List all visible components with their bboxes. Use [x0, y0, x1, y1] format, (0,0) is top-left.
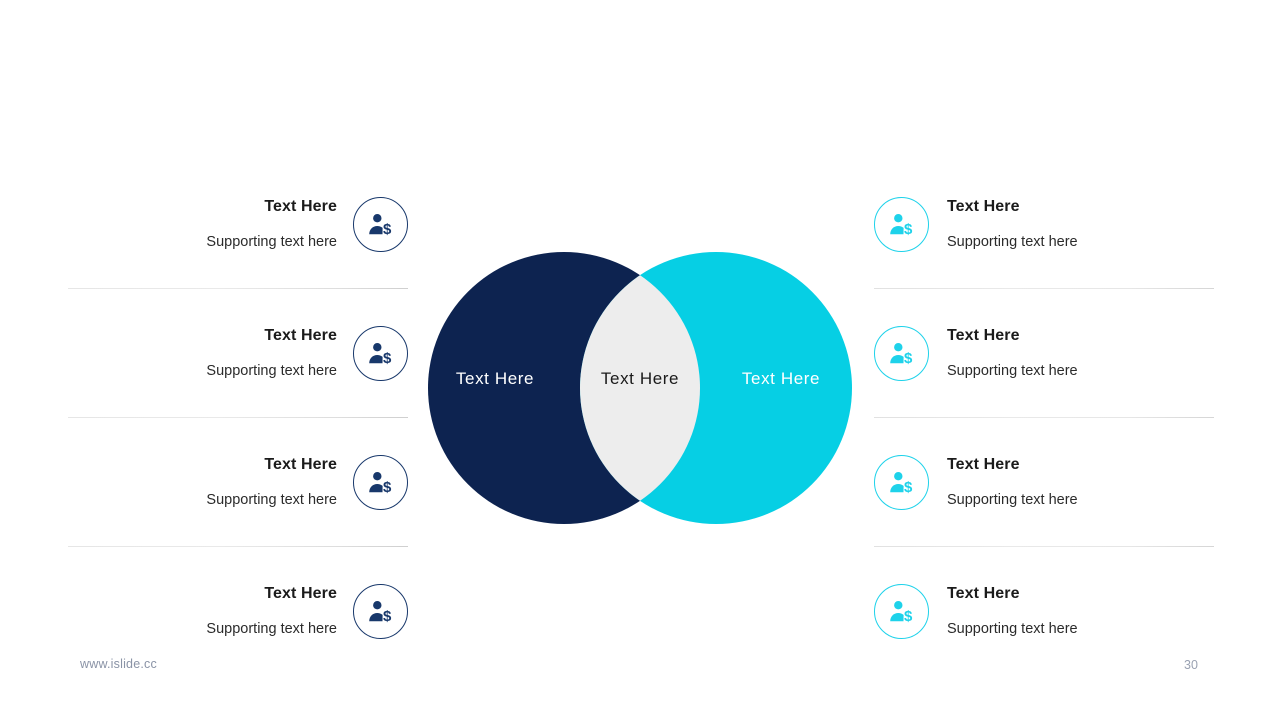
user-dollar-icon[interactable]: $	[874, 197, 929, 252]
list-item-text: Text Here Supporting text here	[68, 198, 353, 250]
user-dollar-icon[interactable]: $	[353, 326, 408, 381]
user-dollar-icon[interactable]: $	[353, 197, 408, 252]
list-item-text: Text Here Supporting text here	[68, 585, 353, 637]
list-item-title: Text Here	[947, 456, 1020, 474]
list-item-text: Text Here Supporting text here	[929, 585, 1214, 637]
list-item[interactable]: Text Here Supporting text here $	[68, 160, 408, 289]
list-item-subtitle: Supporting text here	[947, 492, 1078, 509]
slide-canvas: Text Here Text Here Text Here Text Here …	[0, 0, 1280, 720]
list-item-title: Text Here	[947, 327, 1020, 345]
list-item-subtitle: Supporting text here	[206, 621, 337, 638]
list-item-subtitle: Supporting text here	[206, 363, 337, 380]
list-item-title: Text Here	[264, 198, 337, 216]
list-item-title: Text Here	[264, 585, 337, 603]
list-item-subtitle: Supporting text here	[206, 234, 337, 251]
list-item[interactable]: $ Text Here Supporting text here	[874, 547, 1214, 676]
user-dollar-icon[interactable]: $	[353, 584, 408, 639]
svg-text:$: $	[383, 479, 392, 494]
svg-text:$: $	[904, 608, 913, 623]
footer-url[interactable]: www.islide.cc	[80, 657, 157, 671]
list-item-text: Text Here Supporting text here	[68, 456, 353, 508]
venn-right-label: Text Here	[742, 369, 820, 389]
list-item-text: Text Here Supporting text here	[929, 327, 1214, 379]
right-item-list: $ Text Here Supporting text here $ Text …	[874, 160, 1214, 676]
list-item-text: Text Here Supporting text here	[929, 198, 1214, 250]
user-dollar-icon[interactable]: $	[874, 455, 929, 510]
user-dollar-icon[interactable]: $	[874, 326, 929, 381]
venn-left-label: Text Here	[456, 369, 534, 389]
list-item-subtitle: Supporting text here	[947, 621, 1078, 638]
svg-text:$: $	[904, 479, 913, 494]
list-item[interactable]: $ Text Here Supporting text here	[874, 418, 1214, 547]
list-item[interactable]: Text Here Supporting text here $	[68, 289, 408, 418]
user-dollar-icon[interactable]: $	[874, 584, 929, 639]
list-item-subtitle: Supporting text here	[947, 363, 1078, 380]
venn-diagram: Text Here Text Here Text Here	[428, 252, 852, 524]
list-item[interactable]: $ Text Here Supporting text here	[874, 160, 1214, 289]
svg-text:$: $	[904, 350, 913, 365]
venn-center-label: Text Here	[601, 369, 679, 389]
svg-text:$: $	[383, 350, 392, 365]
left-item-list: Text Here Supporting text here $ Text He…	[68, 160, 408, 676]
list-item-subtitle: Supporting text here	[206, 492, 337, 509]
list-item[interactable]: Text Here Supporting text here $	[68, 418, 408, 547]
list-item-text: Text Here Supporting text here	[929, 456, 1214, 508]
list-item-subtitle: Supporting text here	[947, 234, 1078, 251]
list-item-title: Text Here	[947, 585, 1020, 603]
svg-text:$: $	[383, 608, 392, 623]
list-item-title: Text Here	[947, 198, 1020, 216]
list-item[interactable]: $ Text Here Supporting text here	[874, 289, 1214, 418]
list-item-text: Text Here Supporting text here	[68, 327, 353, 379]
svg-text:$: $	[904, 221, 913, 236]
user-dollar-icon[interactable]: $	[353, 455, 408, 510]
page-number: 30	[1184, 658, 1198, 672]
svg-text:$: $	[383, 221, 392, 236]
list-item-title: Text Here	[264, 456, 337, 474]
list-item-title: Text Here	[264, 327, 337, 345]
